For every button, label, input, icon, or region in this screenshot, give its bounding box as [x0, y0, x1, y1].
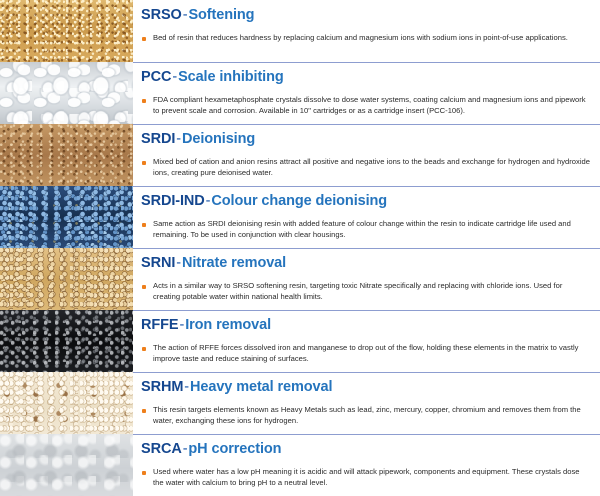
product-description: Scale inhibiting — [178, 69, 284, 85]
product-title: RFFE-Iron removal — [141, 317, 594, 334]
product-content: SRNI-Nitrate removal Acts in a similar w… — [133, 248, 600, 310]
title-separator: - — [175, 131, 182, 147]
product-content: SRSO-Softening Bed of resin that reduces… — [133, 0, 600, 62]
product-content: RFFE-Iron removal The action of RFFE for… — [133, 310, 600, 372]
bullet-square-icon — [142, 347, 146, 351]
product-row: SRSO-Softening Bed of resin that reduces… — [0, 0, 600, 62]
clear-crystal-media-photo — [0, 62, 133, 124]
product-title: SRDI-Deionising — [141, 131, 594, 148]
product-description: Softening — [188, 7, 254, 23]
product-bullet-text: FDA compliant hexametaphosphate crystals… — [153, 95, 590, 116]
product-bullet-text: Same action as SRDI deionising resin wit… — [153, 219, 590, 240]
product-content: SRDI-Deionising Mixed bed of cation and … — [133, 124, 600, 186]
product-bullet-text: This resin targets elements known as Hea… — [153, 405, 590, 426]
product-content: SRHM-Heavy metal removal This resin targ… — [133, 372, 600, 434]
product-image-srca — [0, 434, 133, 496]
bullet-square-icon — [142, 471, 146, 475]
product-image-srdi-ind — [0, 186, 133, 248]
product-code: SRNI — [141, 255, 175, 271]
product-row: SRNI-Nitrate removal Acts in a similar w… — [0, 248, 600, 310]
product-code: SRCA — [141, 441, 182, 457]
product-code: PCC — [141, 69, 171, 85]
product-row: PCC-Scale inhibiting FDA compliant hexam… — [0, 62, 600, 124]
product-title: PCC-Scale inhibiting — [141, 69, 594, 86]
amber-resin-beads-photo — [0, 248, 133, 310]
product-row: SRDI-IND-Colour change deionising Same a… — [0, 186, 600, 248]
product-bullet-text: Used where water has a low pH meaning it… — [153, 467, 590, 488]
product-description: Deionising — [182, 131, 255, 147]
product-bullet: This resin targets elements known as Hea… — [141, 405, 594, 426]
product-bullet: Same action as SRDI deionising resin wit… — [141, 219, 594, 240]
product-bullet-text: The action of RFFE forces dissolved iron… — [153, 343, 590, 364]
title-separator: - — [175, 255, 182, 271]
golden-sand-resin-photo — [0, 0, 133, 62]
product-description: Colour change deionising — [211, 193, 387, 209]
product-row: SRHM-Heavy metal removal This resin targ… — [0, 372, 600, 434]
product-bullet-text: Acts in a similar way to SRSO softening … — [153, 281, 590, 302]
product-bullet: The action of RFFE forces dissolved iron… — [141, 343, 594, 364]
product-bullet: Mixed bed of cation and anion resins att… — [141, 157, 594, 178]
product-code: SRDI-IND — [141, 193, 205, 209]
bullet-square-icon — [142, 99, 146, 103]
product-bullet: Used where water has a low pH meaning it… — [141, 467, 594, 488]
product-bullet-text: Bed of resin that reduces hardness by re… — [153, 33, 568, 44]
product-code: RFFE — [141, 317, 178, 333]
product-content: SRDI-IND-Colour change deionising Same a… — [133, 186, 600, 248]
product-bullet-text: Mixed bed of cation and anion resins att… — [153, 157, 590, 178]
product-title: SRNI-Nitrate removal — [141, 255, 594, 272]
product-code: SRSO — [141, 7, 182, 23]
product-image-srdi — [0, 124, 133, 186]
product-image-pcc — [0, 62, 133, 124]
product-code: SRHM — [141, 379, 183, 395]
cream-resin-beads-photo — [0, 372, 133, 434]
bullet-square-icon — [142, 161, 146, 165]
product-bullet: FDA compliant hexametaphosphate crystals… — [141, 95, 594, 116]
product-title: SRHM-Heavy metal removal — [141, 379, 594, 396]
product-image-srni — [0, 248, 133, 310]
product-description: Heavy metal removal — [190, 379, 332, 395]
product-description: Iron removal — [185, 317, 271, 333]
brown-sand-resin-photo — [0, 124, 133, 186]
blue-indicator-beads-photo — [0, 186, 133, 248]
product-list-sheet: SRSO-Softening Bed of resin that reduces… — [0, 0, 600, 496]
product-title: SRSO-Softening — [141, 7, 594, 24]
product-content: SRCA-pH correction Used where water has … — [133, 434, 600, 496]
product-image-rffe — [0, 310, 133, 372]
bullet-square-icon — [142, 37, 146, 41]
grey-powder-media-photo — [0, 434, 133, 496]
product-row: SRCA-pH correction Used where water has … — [0, 434, 600, 496]
bullet-square-icon — [142, 285, 146, 289]
product-description: pH correction — [188, 441, 281, 457]
bullet-square-icon — [142, 409, 146, 413]
product-code: SRDI — [141, 131, 175, 147]
product-row: SRDI-Deionising Mixed bed of cation and … — [0, 124, 600, 186]
product-description: Nitrate removal — [182, 255, 286, 271]
bullet-square-icon — [142, 223, 146, 227]
product-title: SRCA-pH correction — [141, 441, 594, 458]
product-image-srso — [0, 0, 133, 62]
product-bullet: Acts in a similar way to SRSO softening … — [141, 281, 594, 302]
product-image-srhm — [0, 372, 133, 434]
product-row: RFFE-Iron removal The action of RFFE for… — [0, 310, 600, 372]
product-content: PCC-Scale inhibiting FDA compliant hexam… — [133, 62, 600, 124]
black-granular-media-photo — [0, 310, 133, 372]
product-bullet: Bed of resin that reduces hardness by re… — [141, 33, 594, 44]
product-title: SRDI-IND-Colour change deionising — [141, 193, 594, 210]
